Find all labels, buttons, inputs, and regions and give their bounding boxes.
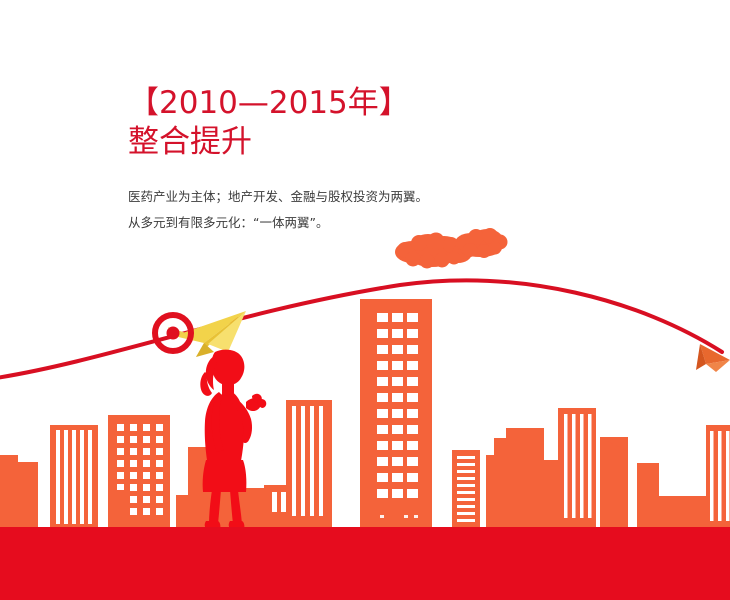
ground-bar xyxy=(0,527,730,600)
page-title-line1: 【2010—2015年】 xyxy=(128,84,428,122)
building-block xyxy=(108,490,130,530)
text-content-block: 【2010—2015年】 整合提升 医药产业为主体；地产开发、金融与股权投资为两… xyxy=(128,84,428,236)
building-block xyxy=(544,460,558,530)
body-text-block: 医药产业为主体；地产开发、金融与股权投资为两翼。 从多元到有限多元化：“一体两翼… xyxy=(128,184,428,236)
slide-canvas: 【2010—2015年】 整合提升 医药产业为主体；地产开发、金融与股权投资为两… xyxy=(0,0,730,600)
cloud-right xyxy=(455,228,508,258)
building-block xyxy=(663,498,707,530)
skyline xyxy=(0,299,730,530)
building-block xyxy=(0,455,18,530)
building-block xyxy=(637,463,659,530)
building-block xyxy=(486,455,526,530)
page-title-line2: 整合提升 xyxy=(128,122,428,162)
building-block xyxy=(176,495,190,530)
building-block xyxy=(600,437,628,530)
building-block xyxy=(452,450,480,530)
body-line-2: 从多元到有限多元化：“一体两翼”。 xyxy=(128,210,428,236)
body-line-1: 医药产业为主体；地产开发、金融与股权投资为两翼。 xyxy=(128,184,428,210)
